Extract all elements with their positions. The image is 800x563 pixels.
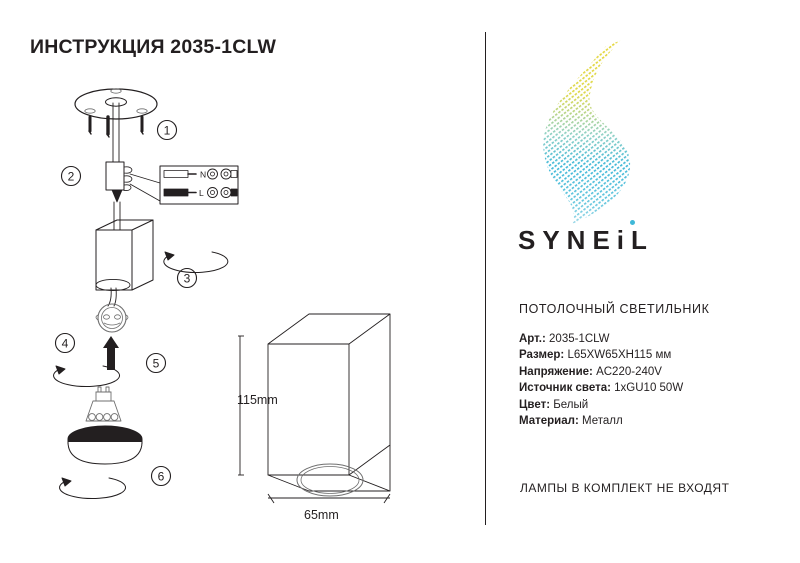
instruction-sheet: ИНСТРУКЦИЯ 2035-1CLW [0, 0, 800, 563]
page-title: ИНСТРУКЦИЯ 2035-1CLW [30, 36, 276, 59]
svg-text:3: 3 [184, 272, 191, 286]
spec-key: Напряжение: [519, 366, 593, 378]
brand-dot-accent [630, 220, 635, 225]
assembly-diagram: 1 2 [20, 70, 270, 520]
rotate-arrow-3-icon [164, 252, 228, 272]
gu10-lamp-icon [86, 387, 121, 421]
product-box-icon [268, 314, 390, 496]
spec-row-material: Материал: Металл [519, 413, 683, 429]
spec-value: 1xGU10 50W [614, 382, 683, 394]
spec-value: AC220-240V [596, 366, 662, 378]
terminal-label-n: N [200, 170, 206, 180]
insert-arrow-up-icon [103, 336, 119, 370]
spec-row-color: Цвет: Белый [519, 397, 683, 413]
product-specs: Арт.: 2035-1CLW Размер: L65XW65XH115 мм … [519, 331, 683, 429]
diffuser-shade-icon [68, 426, 142, 464]
bulbs-not-included-note: ЛАМПЫ В КОМПЛЕКТ НЕ ВХОДЯТ [520, 481, 729, 495]
spec-value: Металл [582, 415, 623, 427]
dimension-drawing: 115mm 65mm [238, 295, 478, 515]
spec-key: Арт.: [519, 333, 546, 345]
svg-text:1: 1 [164, 124, 171, 138]
step-4-marker: 4 [56, 334, 75, 353]
spec-value: 2035-1CLW [549, 333, 610, 345]
luminaire-body-icon [96, 220, 153, 291]
rotate-arrow-6-icon [60, 478, 126, 499]
spec-row-art: Арт.: 2035-1CLW [519, 331, 683, 347]
height-dimension-label: 115mm [237, 393, 278, 407]
spec-row-voltage: Напряжение: AC220-240V [519, 364, 683, 380]
screws-icon [89, 117, 143, 137]
gu10-socket-icon [96, 304, 128, 332]
spec-key: Размер: [519, 349, 564, 361]
panel-divider [485, 32, 486, 525]
ceiling-plate-icon [75, 89, 157, 119]
cable-icon [113, 103, 119, 162]
spec-key: Материал: [519, 415, 579, 427]
step-5-marker: 5 [147, 354, 166, 373]
brand-wordmark: SYNEiL [518, 225, 654, 256]
product-type: ПОТОЛОЧНЫЙ СВЕТИЛЬНИК [519, 302, 710, 316]
spec-key: Источник света: [519, 382, 611, 394]
svg-text:5: 5 [153, 357, 160, 371]
step-6-marker: 6 [152, 467, 171, 486]
step-3-marker: 3 [178, 269, 197, 288]
spec-row-lightsource: Источник света: 1xGU10 50W [519, 380, 683, 396]
callout-leader-lines [130, 174, 160, 201]
svg-text:4: 4 [62, 337, 69, 351]
terminal-label-l: L [199, 188, 204, 198]
syneil-s-wave-logo-icon [510, 38, 775, 238]
spec-value: L65XW65XH115 мм [567, 349, 671, 361]
terminal-block-detail: N L [160, 166, 238, 204]
brand-wordmark-text: SYNEiL [518, 225, 654, 255]
spec-key: Цвет: [519, 399, 550, 411]
step-1-marker: 1 [158, 121, 177, 140]
width-dimension [268, 494, 390, 503]
spec-value: Белый [553, 399, 588, 411]
svg-text:2: 2 [68, 170, 75, 184]
svg-text:6: 6 [158, 470, 165, 484]
spec-row-size: Размер: L65XW65XH115 мм [519, 347, 683, 363]
width-dimension-label: 65mm [304, 508, 339, 522]
step-2-marker: 2 [62, 167, 81, 186]
